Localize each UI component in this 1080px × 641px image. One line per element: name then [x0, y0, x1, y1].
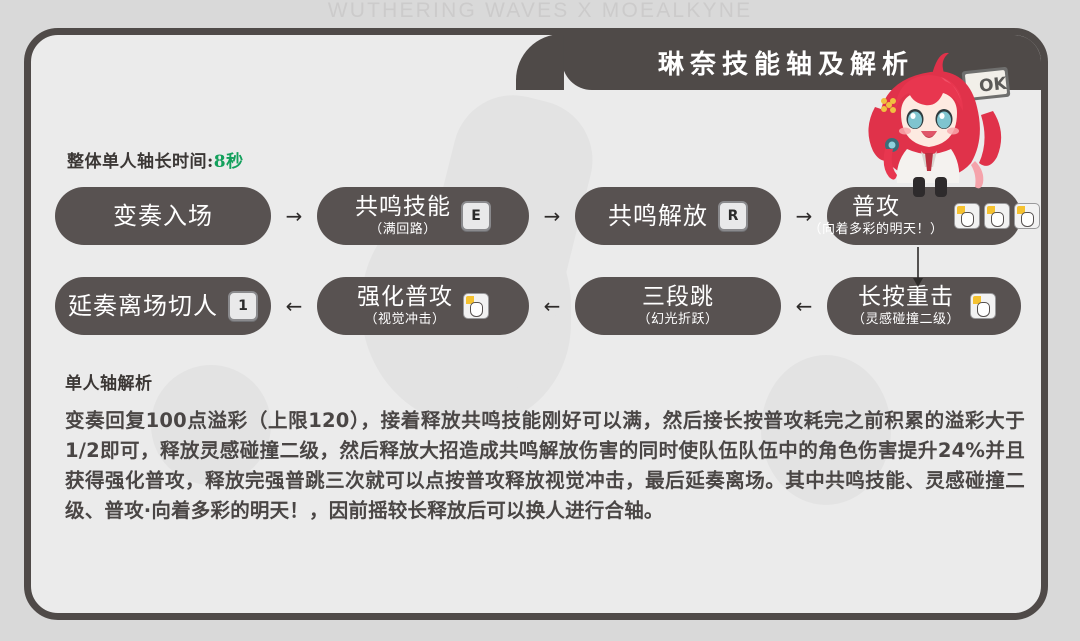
arrow-left-icon: ← — [271, 296, 317, 316]
duration-label: 整体单人轴长时间:8秒 — [67, 147, 244, 172]
analysis-body: 变奏回复100点溢彩（上限120），接着释放共鸣技能刚好可以满，然后接长按普攻耗… — [65, 406, 1025, 526]
mouse-click-icon-group — [463, 293, 489, 319]
flow-step-sanduantiao[interactable]: 三段跳 （幻光折跃） — [575, 277, 781, 335]
watermark-text: WUTHERING WAVES X MOEALKYNE — [0, 0, 1080, 23]
key-e-icon: E — [461, 201, 491, 231]
flow-step-label: 共鸣解放 — [608, 204, 708, 228]
flow-step-sublabel: （视觉冲击） — [364, 313, 445, 326]
key-r-icon: R — [718, 201, 748, 231]
flow-step-sublabel: （灵感碰撞二级） — [852, 313, 960, 326]
arrow-left-icon: ← — [781, 296, 827, 316]
mouse-left-click-icon — [984, 203, 1010, 229]
mouse-left-click-icon — [1014, 203, 1040, 229]
flow-step-sublabel: （向着多彩的明天！） — [809, 223, 944, 236]
mouse-left-click-icon — [970, 293, 996, 319]
flow-step-gongming-jiefang[interactable]: 共鸣解放 R — [575, 187, 781, 245]
flow-step-sublabel: （满回路） — [369, 223, 437, 236]
flow-row-2: 延奏离场切人 1 ← 强化普攻 （视觉冲击） ← 三段跳 （幻光折跃） — [55, 275, 1031, 337]
mouse-click-icon-group — [954, 203, 1040, 229]
flow-step-yanzou-lichang-qieren[interactable]: 延奏离场切人 1 — [55, 277, 271, 335]
flow-step-label: 强化普攻 — [357, 286, 453, 309]
arrow-down-icon — [908, 247, 928, 289]
flow-step-sublabel: （幻光折跃） — [637, 313, 718, 326]
arrow-right-icon: → — [271, 206, 317, 226]
main-card: 琳奈技能轴及解析 OK — [24, 28, 1048, 620]
flow-step-label: 变奏入场 — [113, 204, 213, 228]
duration-value: 8秒 — [214, 152, 244, 172]
flow-step-gongming-jineng[interactable]: 共鸣技能 （满回路） E — [317, 187, 529, 245]
skill-rotation-flow: 变奏入场 → 共鸣技能 （满回路） E → 共鸣解放 R → — [55, 185, 1031, 337]
analysis-heading: 单人轴解析 — [65, 369, 1025, 394]
analysis-section: 单人轴解析 变奏回复100点溢彩（上限120），接着释放共鸣技能刚好可以满，然后… — [65, 369, 1025, 526]
flow-step-label: 共鸣技能 — [355, 196, 451, 219]
character-illustration: OK — [855, 49, 1023, 199]
mouse-left-click-icon — [463, 293, 489, 319]
duration-label-text: 整体单人轴长时间: — [67, 152, 214, 172]
flow-step-label: 长按重击 — [858, 286, 954, 309]
arrow-left-icon: ← — [529, 296, 575, 316]
flow-step-qianghua-pugong[interactable]: 强化普攻 （视觉冲击） — [317, 277, 529, 335]
arrow-right-icon: → — [529, 206, 575, 226]
mouse-click-icon-group — [970, 293, 996, 319]
flow-step-label: 延奏离场切人 — [68, 294, 218, 318]
flow-step-bianzou-ruchang[interactable]: 变奏入场 — [55, 187, 271, 245]
key-1-icon: 1 — [228, 291, 258, 321]
flow-step-label: 普攻 — [852, 196, 900, 219]
svg-text:OK: OK — [978, 74, 1008, 97]
flow-step-label: 三段跳 — [642, 286, 714, 309]
mouse-left-click-icon — [954, 203, 980, 229]
